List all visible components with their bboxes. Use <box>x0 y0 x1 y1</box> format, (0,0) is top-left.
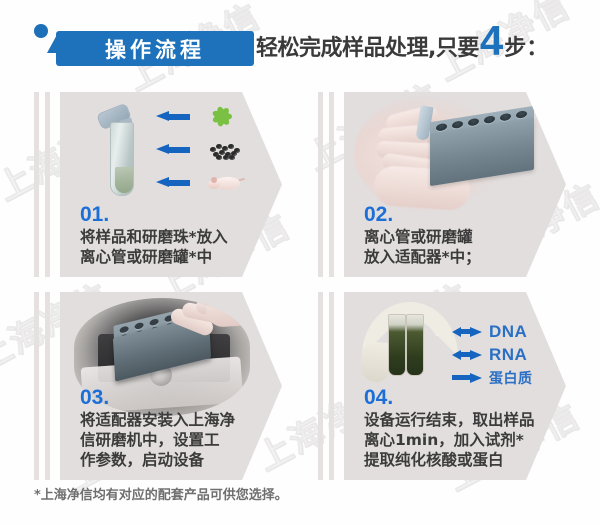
step-04-text: 04. 设备运行结束，取出样品 离心1min，加入试剂* 提取纯化核酸或蛋白 <box>364 386 535 470</box>
step-number: 03. <box>80 386 235 410</box>
output-item: RNA <box>452 343 566 366</box>
card-side-bars <box>318 92 340 277</box>
step-line: 提取纯化核酸或蛋白 <box>364 450 535 470</box>
arrow-right-icon <box>452 327 482 337</box>
output-list: DNA RNA 蛋白质 <box>452 320 566 389</box>
side-bar-outer <box>318 92 323 277</box>
sample-beads <box>202 137 246 163</box>
step-number: 02. <box>364 203 481 227</box>
step-number: 04. <box>364 386 535 410</box>
side-bar-outer <box>34 292 39 480</box>
step-line: 设备运行结束，取出样品 <box>364 410 535 430</box>
step-card-01: 01. 将样品和研磨珠*放入 离心管或研磨罐*中 <box>34 92 282 277</box>
card-side-bars <box>34 292 56 480</box>
side-bar-inner <box>329 92 334 277</box>
card-side-bars <box>34 92 56 277</box>
page-header: 操作流程 轻松完成样品处理,只要 4 步： <box>0 0 600 82</box>
step-02-text: 02. 离心管或研磨罐 放入适配器*中； <box>364 203 481 267</box>
step-number: 01. <box>80 203 228 227</box>
step-line: 放入适配器*中； <box>364 247 481 267</box>
output-label: 蛋白质 <box>489 368 533 388</box>
section-badge: 操作流程 <box>34 24 254 66</box>
step-card-02: 02. 离心管或研磨罐 放入适配器*中； <box>318 92 566 277</box>
page-title: 轻松完成样品处理,只要 4 步： <box>256 24 548 68</box>
side-bar-inner <box>45 292 50 480</box>
side-bar-outer <box>318 292 323 480</box>
step-line: 离心管或研磨罐*中 <box>80 247 228 267</box>
arrow-left-icon <box>156 111 190 122</box>
arrow-left-icon <box>156 144 190 155</box>
step-01-illustration <box>60 92 282 207</box>
step-card-04: DNA RNA 蛋白质 04. 设备运行结束，取出样品 <box>318 292 566 480</box>
step-03-text: 03. 将适配器安装入上海净 信研磨机中，设置工 作参数，启动设备 <box>80 386 235 470</box>
sample-vials-icon <box>388 314 426 376</box>
infographic-page: 操作流程 轻松完成样品处理,只要 4 步： <box>0 0 600 526</box>
step-01-text: 01. 将样品和研磨珠*放入 离心管或研磨罐*中 <box>80 203 228 267</box>
step-line: 离心管或研磨罐 <box>364 227 481 247</box>
output-label: DNA <box>489 322 527 342</box>
step-line: 作参数，启动设备 <box>80 450 235 470</box>
badge-dot-icon <box>34 24 48 38</box>
side-bar-inner <box>329 292 334 480</box>
step-card-03: 03. 将适配器安装入上海净 信研磨机中，设置工 作参数，启动设备 <box>34 292 282 480</box>
headline-prefix: 轻松完成样品处理,只要 <box>256 30 479 62</box>
output-item: DNA <box>452 320 566 343</box>
headline-suffix: 步： <box>504 30 548 62</box>
sample-mouse <box>202 170 246 196</box>
hand-icon <box>164 298 250 362</box>
mouse-icon <box>208 173 244 193</box>
card-side-bars <box>318 292 340 480</box>
arrow-right-icon <box>452 350 482 360</box>
side-bar-inner <box>45 92 50 277</box>
grinding-beads-icon <box>208 140 242 160</box>
step-line: 将样品和研磨珠*放入 <box>80 227 228 247</box>
sample-leaf <box>202 104 246 130</box>
arrow-right-icon <box>452 373 482 383</box>
step-line: 信研磨机中，设置工 <box>80 430 235 450</box>
arrow-left-icon <box>156 177 190 188</box>
headline-step-count: 4 <box>480 24 503 58</box>
footnote: *上海净信均有对应的配套产品可供您选择。 <box>34 484 288 503</box>
leaf-icon <box>208 104 240 130</box>
step-line: 将适配器安装入上海净 <box>80 410 235 430</box>
step-line: 离心1min，加入试剂* <box>364 430 535 450</box>
output-label: RNA <box>489 345 527 365</box>
side-bar-outer <box>34 92 39 277</box>
badge-label: 操作流程 <box>56 31 254 66</box>
step-02-illustration <box>344 92 566 214</box>
